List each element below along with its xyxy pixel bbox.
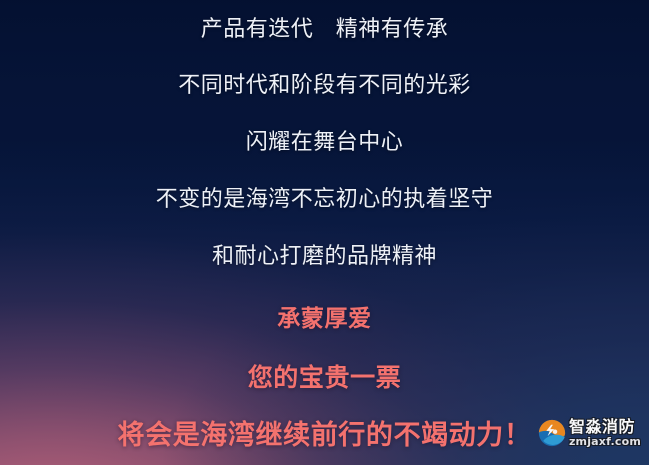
zhimiao-fire-logo-icon — [538, 419, 566, 447]
message-line-1: 产品有迭代 精神有传承 — [0, 19, 649, 41]
highlight-line-1: 承蒙厚爱 — [0, 308, 649, 331]
message-line-3: 闪耀在舞台中心 — [0, 132, 649, 154]
watermark-text: 智淼消防 zmjaxf.com — [569, 419, 641, 447]
message-line-4: 不变的是海湾不忘初心的执着坚守 — [0, 189, 649, 211]
watermark-url: zmjaxf.com — [569, 436, 641, 447]
message-line-5: 和耐心打磨的品牌精神 — [0, 246, 649, 268]
message-line-2: 不同时代和阶段有不同的光彩 — [0, 75, 649, 97]
highlight-line-2: 您的宝贵一票 — [0, 365, 649, 390]
watermark-brand: 智淼消防 — [569, 419, 635, 435]
message-block: 产品有迭代 精神有传承 不同时代和阶段有不同的光彩 闪耀在舞台中心 不变的是海湾… — [0, 0, 649, 465]
slide-canvas: 产品有迭代 精神有传承 不同时代和阶段有不同的光彩 闪耀在舞台中心 不变的是海湾… — [0, 0, 649, 465]
watermark: 智淼消防 zmjaxf.com — [538, 419, 641, 447]
